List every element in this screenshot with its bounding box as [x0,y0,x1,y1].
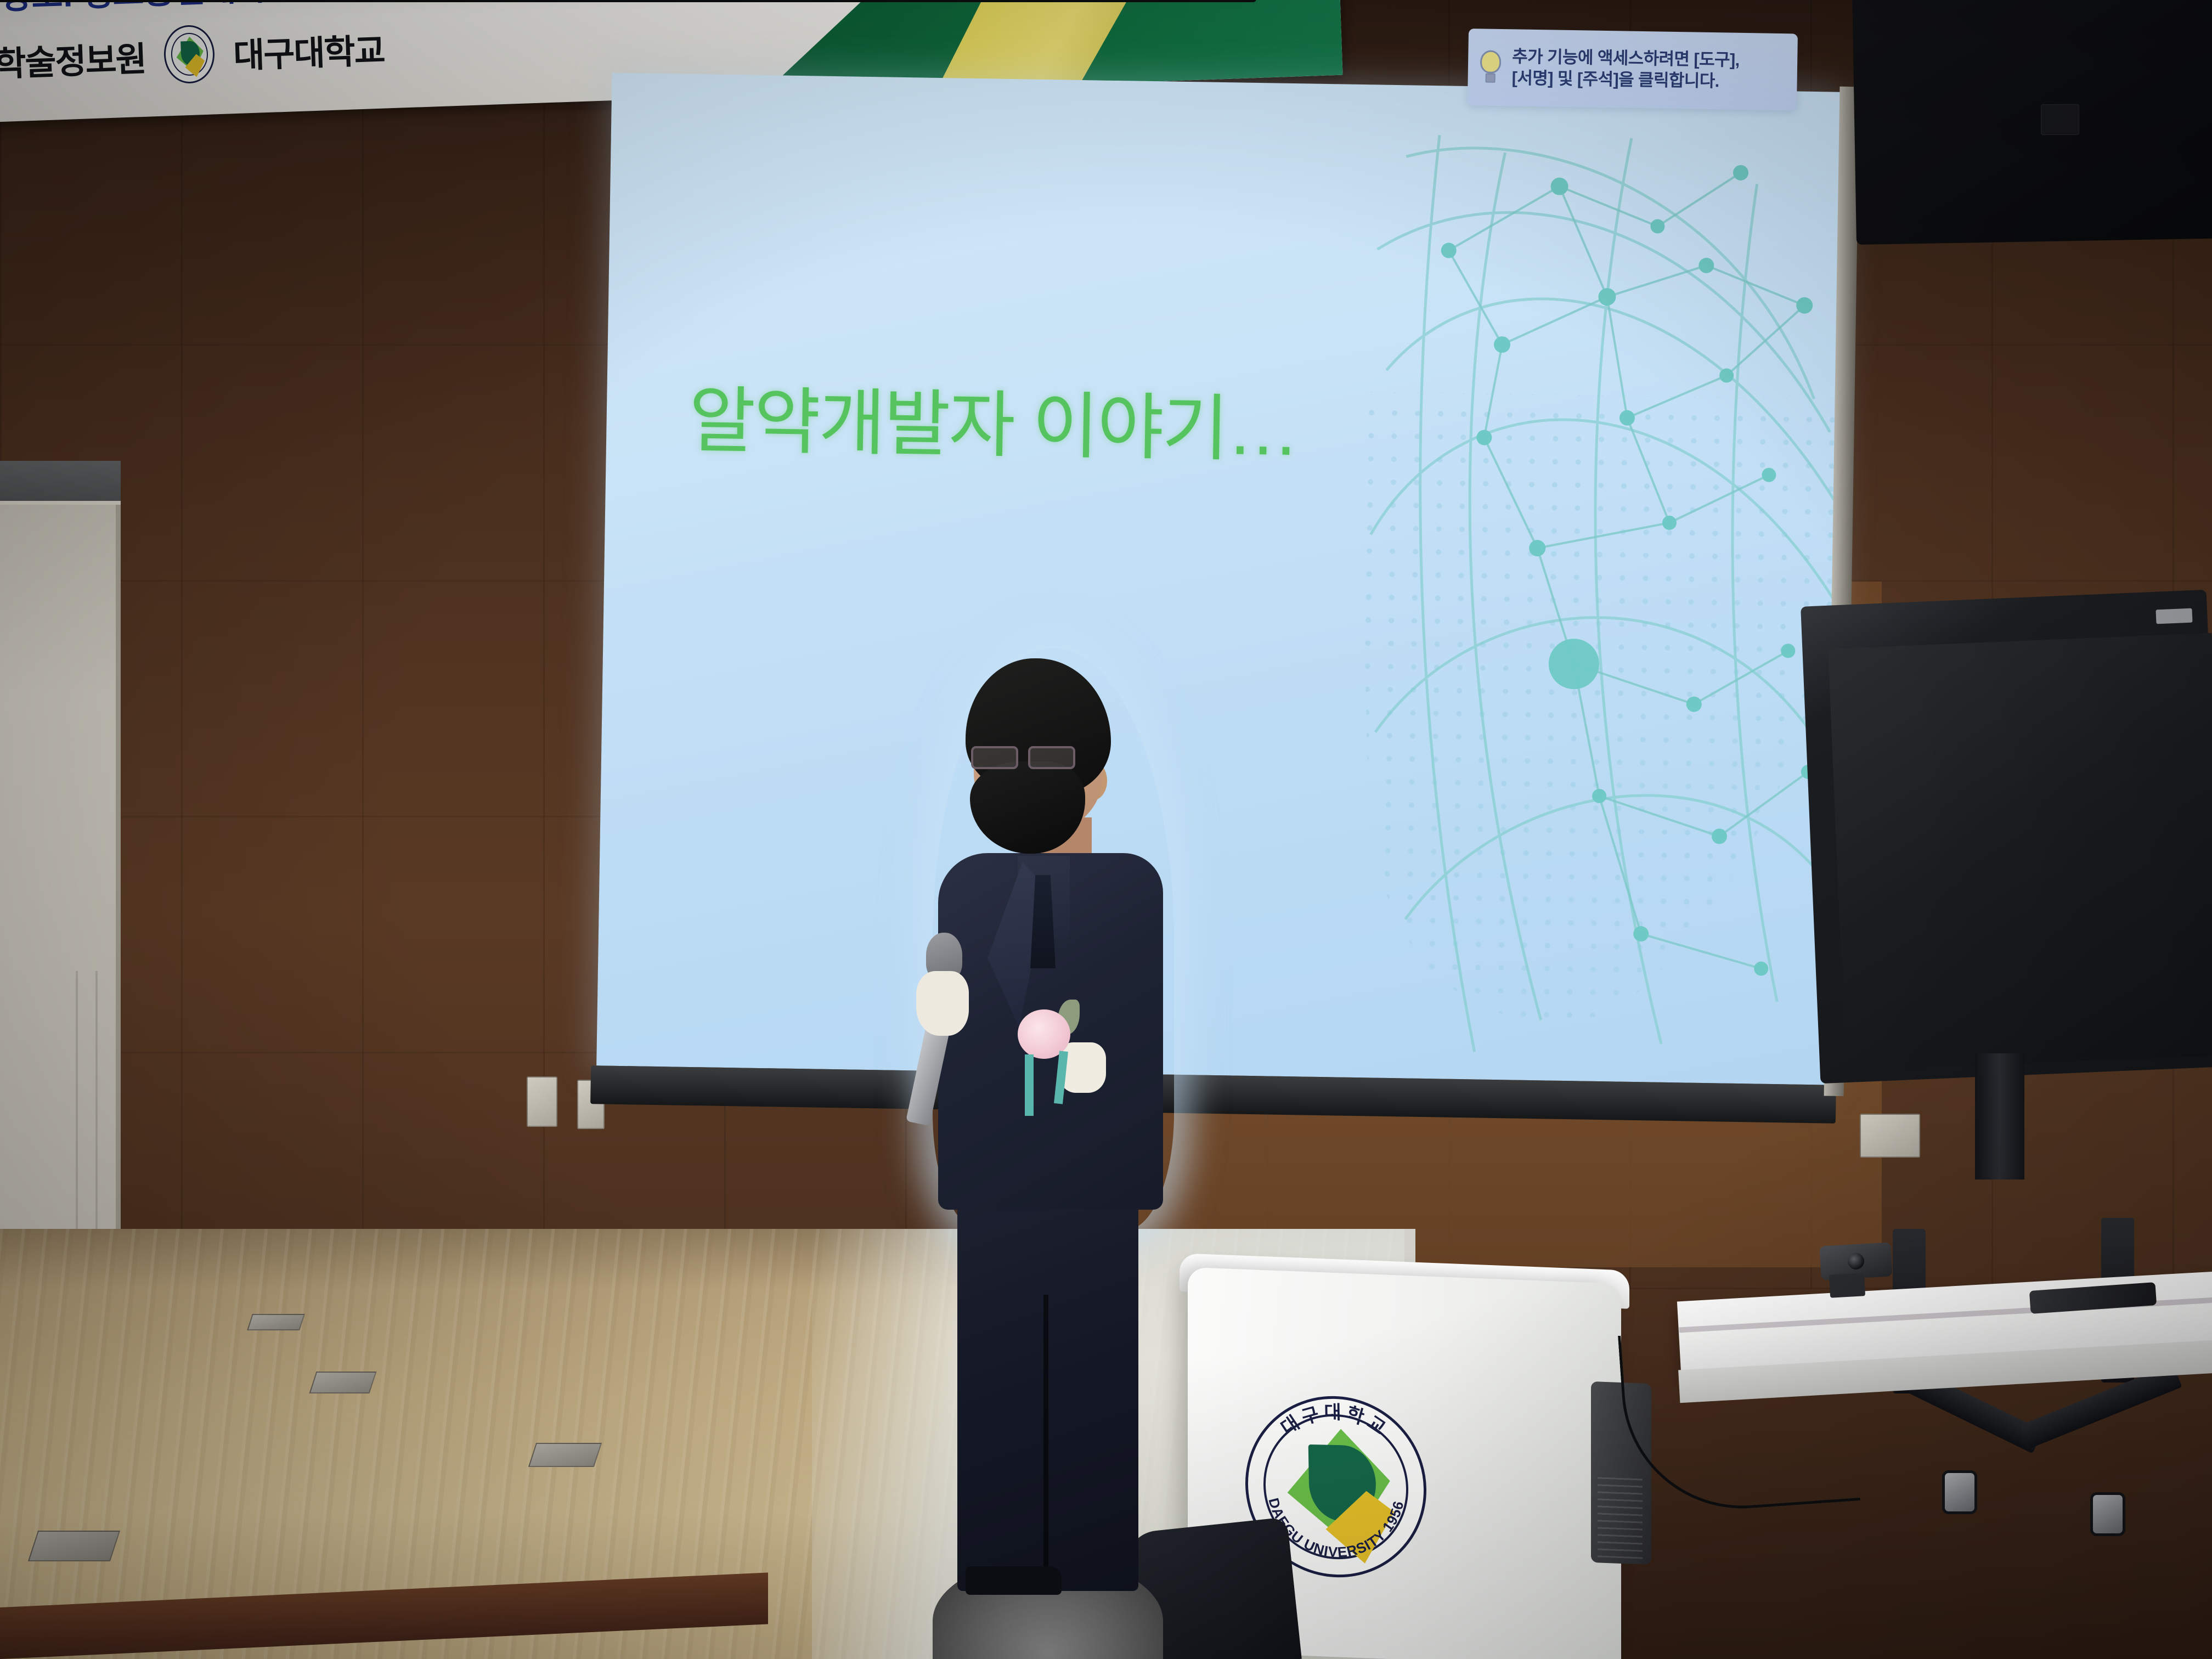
corsage-ribbon [1025,1054,1034,1116]
svg-text:대구대학교: 대구대학교 [1277,1401,1393,1441]
mobile-display-screen[interactable] [1828,633,2212,1071]
lightbulb-icon [1477,50,1503,84]
floor-outlet-plate[interactable] [528,1443,602,1467]
floor-outlet-plate[interactable] [309,1372,377,1393]
presenter-shoe [966,1566,1062,1595]
daegu-university-emblem-icon [163,24,216,84]
cart-caster-wheel [2090,1492,2125,1536]
slide-title: 알약개발자 이야기… [688,362,1299,476]
side-door[interactable] [0,461,121,1240]
webcam-clip [1829,1273,1865,1298]
door-transom-window [0,461,121,505]
cart-caster-wheel [1942,1470,1977,1514]
floor-outlet-plate[interactable] [247,1314,305,1330]
banner-venue-line: 장소: 정보통신대학 ... [0,0,769,19]
display-stand-column [1975,1053,2024,1180]
podium-vent-grille [1598,1475,1643,1559]
wall-outlet-plate[interactable] [1860,1114,1920,1158]
display-brand-label [2155,608,2192,624]
eyeglasses-icon [971,746,1081,770]
banner-organizer: 국교육학술정보원 [0,31,146,89]
tooltip-line-1: 추가 기능에 액세스하려면 [도구], [1512,47,1740,70]
tv-brand-badge [2041,104,2079,135]
slide-network-graphic [1310,84,1863,1085]
slide-tooltip: 추가 기능에 액세스하려면 [도구], [서명] 및 [주석]을 클릭합니다. [1468,29,1798,110]
presenter-gloved-hand-upper [916,971,969,1036]
presenter-leg-seam [1043,1295,1048,1591]
wall-mounted-tv[interactable] [1852,0,2212,245]
tooltip-line-2: [서명] 및 [주석]을 클릭합니다. [1511,68,1719,91]
auditorium-scene: 장소: 정보통신대학 ... 국교육학술정보원 대구대학교 [0,0,2212,1659]
wall-outlet-plate[interactable] [527,1076,557,1127]
banner-university: 대구대학교 [233,23,385,78]
floor-outlet-plate[interactable] [28,1531,120,1561]
logo-korean-text: 대구대학교 [1277,1401,1393,1441]
screen-housing [0,0,1256,2]
